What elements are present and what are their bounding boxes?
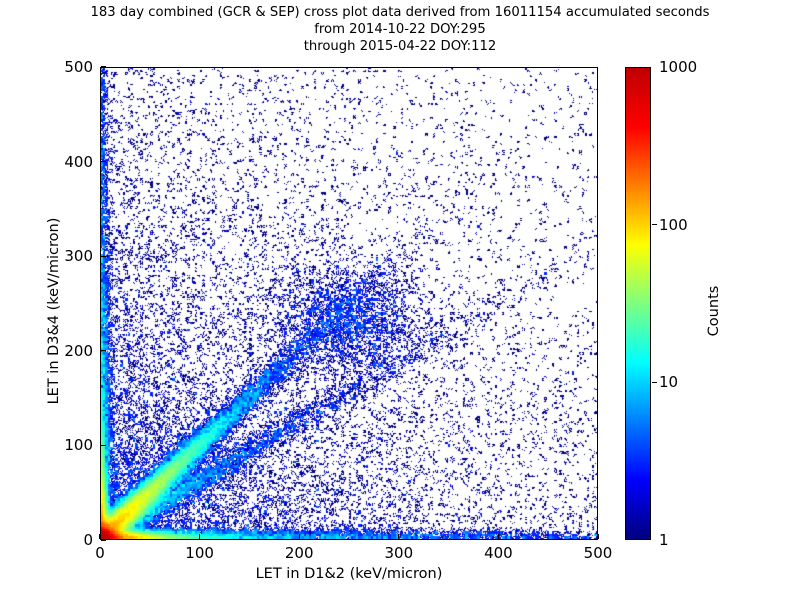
y-tick-mark [101,350,106,351]
x-tick-label: 200 [285,544,314,562]
x-tick-label: 300 [384,544,413,562]
x-tick-mark [299,534,300,539]
title-line-3: through 2015-04-22 DOY:112 [0,38,800,55]
x-tick-label: 500 [584,544,613,562]
x-tick-mark [597,534,598,539]
colorbar-tick-mark [652,382,657,383]
x-axis-label: LET in D1&2 (keV/micron) [100,566,598,582]
y-tick-mark [101,539,106,540]
colorbar-gradient [626,68,650,539]
colorbar [625,67,651,540]
x-tick-mark [498,534,499,539]
y-tick-label: 0 [38,531,93,549]
colorbar-tick-label: 1 [659,531,669,549]
figure-title: 183 day combined (GCR & SEP) cross plot … [0,4,800,55]
plot-area [100,67,598,540]
y-tick-label: 500 [38,58,93,76]
title-line-1: 183 day combined (GCR & SEP) cross plot … [0,4,800,21]
y-tick-mark [101,161,106,162]
colorbar-tick-mark [652,224,657,225]
x-tick-mark [398,534,399,539]
figure-root: 183 day combined (GCR & SEP) cross plot … [0,0,800,600]
x-tick-label: 100 [185,544,214,562]
colorbar-title: Counts [706,201,722,421]
y-tick-mark [101,445,106,446]
x-tick-label: 400 [484,544,513,562]
title-line-2: from 2014-10-22 DOY:295 [0,21,800,38]
colorbar-tick-label: 1000 [659,58,697,76]
colorbar-tick-label: 10 [659,373,678,391]
x-tick-mark [199,534,200,539]
colorbar-tick-label: 100 [659,216,688,234]
y-tick-mark [101,66,106,67]
density-scatter-canvas [101,68,597,539]
y-axis-label: LET in D3&4 (keV/micron) [46,161,62,461]
y-tick-mark [101,256,106,257]
x-tick-label: 0 [95,544,105,562]
x-tick-mark [99,534,100,539]
